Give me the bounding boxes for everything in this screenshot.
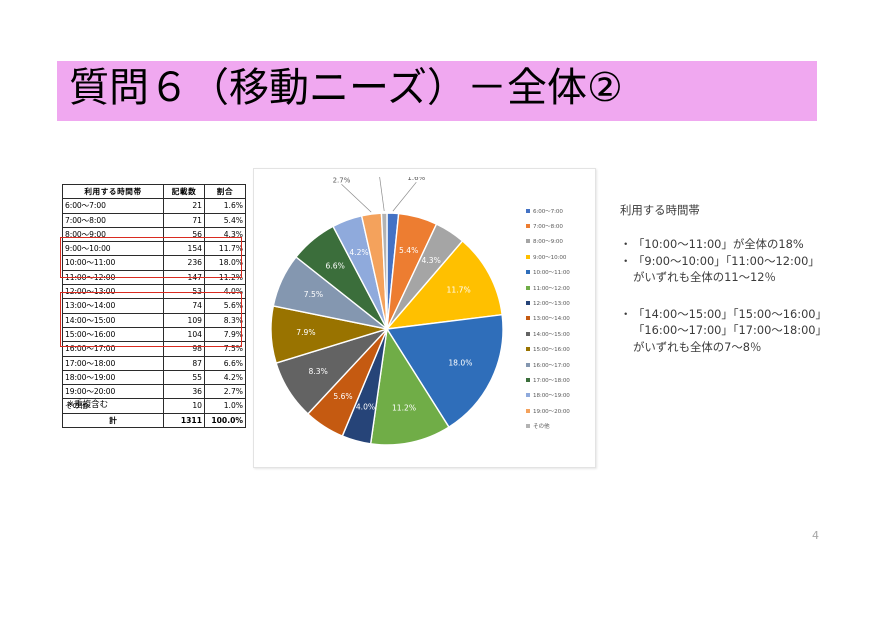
commentary-heading: 利用する時間帯 xyxy=(620,203,882,218)
pie-data-label: 6.6% xyxy=(326,262,345,271)
row-share: 2.7% xyxy=(205,385,246,399)
table-row: 16:00～17:00987.5% xyxy=(63,342,246,356)
pie-data-label: 4.0% xyxy=(356,402,375,411)
time-slot-table: 利用する時間帯 記載数 割合 6:00～7:00211.6%7:00～8:007… xyxy=(62,184,246,428)
pie-chart-frame[interactable]: 1.6%5.4%4.3%11.7%18.0%11.2%4.0%5.6%8.3%7… xyxy=(253,168,596,468)
total-label: 計 xyxy=(63,413,164,427)
row-share: 11.2% xyxy=(205,270,246,284)
bullet-dot-icon: ・ xyxy=(620,253,633,270)
legend-color-swatch-icon xyxy=(526,347,530,351)
legend-color-swatch-icon xyxy=(526,270,530,274)
legend-color-swatch-icon xyxy=(526,363,530,367)
pie-data-label: 4.3% xyxy=(422,256,441,265)
legend-color-swatch-icon xyxy=(526,255,530,259)
row-count: 98 xyxy=(164,342,205,356)
legend-item-label: 6:00～7:00 xyxy=(533,207,563,215)
legend-item-label: 14:00～15:00 xyxy=(533,330,570,338)
pie-data-label: 4.2% xyxy=(349,248,368,257)
table-row: 10:00～11:0023618.0% xyxy=(63,256,246,270)
table-row: 14:00～15:001098.3% xyxy=(63,313,246,327)
row-count: 56 xyxy=(164,227,205,241)
row-label: 6:00～7:00 xyxy=(63,199,164,213)
row-label: 12:00～13:00 xyxy=(63,285,164,299)
row-share: 4.3% xyxy=(205,227,246,241)
row-count: 21 xyxy=(164,199,205,213)
row-count: 36 xyxy=(164,385,205,399)
legend-item-label: 15:00～16:00 xyxy=(533,345,570,353)
pie-data-label: 11.7% xyxy=(447,286,471,295)
row-label: 7:00～8:00 xyxy=(63,213,164,227)
table-body: 6:00～7:00211.6%7:00～8:00715.4%8:00～9:005… xyxy=(63,199,246,428)
row-label: 19:00～20:00 xyxy=(63,385,164,399)
commentary-bullet-group: ・「10:00～11:00」が全体の18%・「9:00～10:00」「11:00… xyxy=(620,236,882,286)
commentary-line-text: 「16:00～17:00」「17:00～18:00」 xyxy=(633,323,827,337)
table-row: 8:00～9:00564.3% xyxy=(63,227,246,241)
total-share: 100.0% xyxy=(205,413,246,427)
legend-item[interactable]: その他 xyxy=(526,418,596,433)
table-row: 15:00～16:001047.9% xyxy=(63,327,246,341)
commentary-line: 「16:00～17:00」「17:00～18:00」 xyxy=(620,322,882,339)
slide-title-band: 質問６（移動ニーズ）－全体② xyxy=(57,61,817,121)
row-count: 109 xyxy=(164,313,205,327)
row-count: 147 xyxy=(164,270,205,284)
commentary-line: ・「10:00～11:00」が全体の18% xyxy=(620,236,882,253)
table-header-share: 割合 xyxy=(205,185,246,199)
table-row: 9:00～10:0015411.7% xyxy=(63,242,246,256)
legend-item[interactable]: 19:00～20:00 xyxy=(526,403,596,418)
table-row: 7:00～8:00715.4% xyxy=(63,213,246,227)
page-title: 質問６（移動ニーズ）－全体② xyxy=(69,57,623,119)
legend-item-label: その他 xyxy=(533,422,549,430)
table-row: 18:00～19:00554.2% xyxy=(63,370,246,384)
commentary-groups: ・「10:00～11:00」が全体の18%・「9:00～10:00」「11:00… xyxy=(620,236,882,355)
row-count: 71 xyxy=(164,213,205,227)
commentary-block: 利用する時間帯 ・「10:00～11:00」が全体の18%・「9:00～10:0… xyxy=(620,203,882,375)
commentary-line: がいずれも全体の11～12％ xyxy=(620,269,882,286)
legend-item[interactable]: 18:00～19:00 xyxy=(526,388,596,403)
row-share: 4.0% xyxy=(205,285,246,299)
legend-item[interactable]: 17:00～18:00 xyxy=(526,372,596,387)
row-share: 18.0% xyxy=(205,256,246,270)
table-total-row: 計1311100.0% xyxy=(63,413,246,427)
legend-item[interactable]: 9:00～10:00 xyxy=(526,249,596,264)
row-label: 15:00～16:00 xyxy=(63,327,164,341)
row-label: 18:00～19:00 xyxy=(63,370,164,384)
pie-label-leader-line xyxy=(380,177,385,211)
row-share: 7.5% xyxy=(205,342,246,356)
legend-color-swatch-icon xyxy=(526,378,530,382)
pie-data-label: 5.6% xyxy=(333,392,352,401)
row-share: 1.6% xyxy=(205,199,246,213)
legend-color-swatch-icon xyxy=(526,316,530,320)
pie-data-label: 7.5% xyxy=(304,290,323,299)
legend-item[interactable]: 14:00～15:00 xyxy=(526,326,596,341)
row-share: 7.9% xyxy=(205,327,246,341)
legend-item[interactable]: 13:00～14:00 xyxy=(526,311,596,326)
row-share: 4.2% xyxy=(205,370,246,384)
row-label: 9:00～10:00 xyxy=(63,242,164,256)
pie-data-label: 18.0% xyxy=(448,359,472,368)
pie-data-label: 7.9% xyxy=(296,328,315,337)
legend-item-label: 11:00～12:00 xyxy=(533,284,570,292)
legend-item-label: 9:00～10:00 xyxy=(533,253,566,261)
table-footnote: ※重複含む xyxy=(67,398,108,410)
table-header-row: 利用する時間帯 記載数 割合 xyxy=(63,185,246,199)
time-slot-table-wrapper: 利用する時間帯 記載数 割合 6:00～7:00211.6%7:00～8:007… xyxy=(62,184,246,428)
commentary-line-text: 「10:00～11:00」が全体の18% xyxy=(633,237,804,251)
legend-item[interactable]: 16:00～17:00 xyxy=(526,357,596,372)
row-count: 55 xyxy=(164,370,205,384)
slide-canvas: 質問６（移動ニーズ）－全体② 利用する時間帯 記載数 割合 6:00～7:002… xyxy=(0,0,891,626)
row-count: 104 xyxy=(164,327,205,341)
pie-data-label: 1.6% xyxy=(407,177,425,182)
row-share: 11.7% xyxy=(205,242,246,256)
legend-color-swatch-icon xyxy=(526,424,530,428)
legend-item-label: 17:00～18:00 xyxy=(533,376,570,384)
pie-data-label: 5.4% xyxy=(399,246,418,255)
legend-item[interactable]: 10:00～11:00 xyxy=(526,265,596,280)
legend-item-label: 8:00～9:00 xyxy=(533,237,563,245)
table-row: 11:00～12:0014711.2% xyxy=(63,270,246,284)
legend-item[interactable]: 8:00～9:00 xyxy=(526,234,596,249)
row-label: 17:00～18:00 xyxy=(63,356,164,370)
commentary-bullet-group: ・「14:00～15:00」「15:00～16:00」「16:00～17:00」… xyxy=(620,306,882,356)
commentary-line-text: 「14:00～15:00」「15:00～16:00」 xyxy=(633,307,827,321)
total-count: 1311 xyxy=(164,413,205,427)
commentary-line-text: がいずれも全体の11～12％ xyxy=(633,270,776,284)
row-share: 8.3% xyxy=(205,313,246,327)
legend-color-swatch-icon xyxy=(526,393,530,397)
row-label: 14:00～15:00 xyxy=(63,313,164,327)
row-count: 74 xyxy=(164,299,205,313)
pie-data-label: 8.3% xyxy=(309,367,328,376)
row-label: 8:00～9:00 xyxy=(63,227,164,241)
pie-data-label: 2.7% xyxy=(333,177,351,184)
bullet-dot-icon: ・ xyxy=(620,306,633,323)
legend-color-swatch-icon xyxy=(526,332,530,336)
table-row: 12:00～13:00534.0% xyxy=(63,285,246,299)
commentary-line-text: 「9:00～10:00」「11:00～12:00」 xyxy=(633,254,820,268)
legend-item-label: 18:00～19:00 xyxy=(533,391,570,399)
pie-chart-plot-area[interactable]: 1.6%5.4%4.3%11.7%18.0%11.2%4.0%5.6%8.3%7… xyxy=(258,177,516,465)
legend-item-label: 10:00～11:00 xyxy=(533,268,570,276)
legend-item[interactable]: 12:00～13:00 xyxy=(526,295,596,310)
row-share: 5.4% xyxy=(205,213,246,227)
legend-item[interactable]: 11:00～12:00 xyxy=(526,280,596,295)
pie-label-leader-line xyxy=(393,182,416,211)
legend-color-swatch-icon xyxy=(526,286,530,290)
chart-legend[interactable]: 6:00～7:007:00～8:008:00～9:009:00～10:0010:… xyxy=(526,203,596,434)
table-row: 6:00～7:00211.6% xyxy=(63,199,246,213)
legend-color-swatch-icon xyxy=(526,209,530,213)
legend-item-label: 13:00～14:00 xyxy=(533,314,570,322)
pie-chart-svg: 1.6%5.4%4.3%11.7%18.0%11.2%4.0%5.6%8.3%7… xyxy=(258,177,516,465)
row-share: 5.6% xyxy=(205,299,246,313)
pie-label-leader-line xyxy=(342,184,372,212)
table-header-count: 記載数 xyxy=(164,185,205,199)
legend-color-swatch-icon xyxy=(526,409,530,413)
legend-item-label: 19:00～20:00 xyxy=(533,407,570,415)
row-count: 53 xyxy=(164,285,205,299)
legend-color-swatch-icon xyxy=(526,224,530,228)
row-count: 10 xyxy=(164,399,205,413)
commentary-line: がいずれも全体の7～8％ xyxy=(620,339,882,356)
row-label: 10:00～11:00 xyxy=(63,256,164,270)
legend-color-swatch-icon xyxy=(526,301,530,305)
row-label: 11:00～12:00 xyxy=(63,270,164,284)
row-share: 1.0% xyxy=(205,399,246,413)
commentary-line: ・「9:00～10:00」「11:00～12:00」 xyxy=(620,253,882,270)
legend-item[interactable]: 7:00～8:00 xyxy=(526,218,596,233)
row-label: 16:00～17:00 xyxy=(63,342,164,356)
table-row: 17:00～18:00876.6% xyxy=(63,356,246,370)
table-header-label: 利用する時間帯 xyxy=(63,185,164,199)
row-count: 154 xyxy=(164,242,205,256)
legend-item[interactable]: 15:00～16:00 xyxy=(526,342,596,357)
legend-color-swatch-icon xyxy=(526,239,530,243)
row-count: 236 xyxy=(164,256,205,270)
commentary-line: ・「14:00～15:00」「15:00～16:00」 xyxy=(620,306,882,323)
table-row: 13:00～14:00745.6% xyxy=(63,299,246,313)
legend-item-label: 16:00～17:00 xyxy=(533,361,570,369)
commentary-line-text: がいずれも全体の7～8％ xyxy=(633,340,761,354)
legend-item-label: 7:00～8:00 xyxy=(533,222,563,230)
legend-item-label: 12:00～13:00 xyxy=(533,299,570,307)
bullet-dot-icon: ・ xyxy=(620,236,633,253)
pie-data-label: 11.2% xyxy=(392,403,416,412)
table-row: 19:00～20:00362.7% xyxy=(63,385,246,399)
page-number: 4 xyxy=(812,529,819,542)
row-count: 87 xyxy=(164,356,205,370)
row-label: 13:00～14:00 xyxy=(63,299,164,313)
row-share: 6.6% xyxy=(205,356,246,370)
legend-item[interactable]: 6:00～7:00 xyxy=(526,203,596,218)
pie-leader-line-group xyxy=(342,177,417,212)
